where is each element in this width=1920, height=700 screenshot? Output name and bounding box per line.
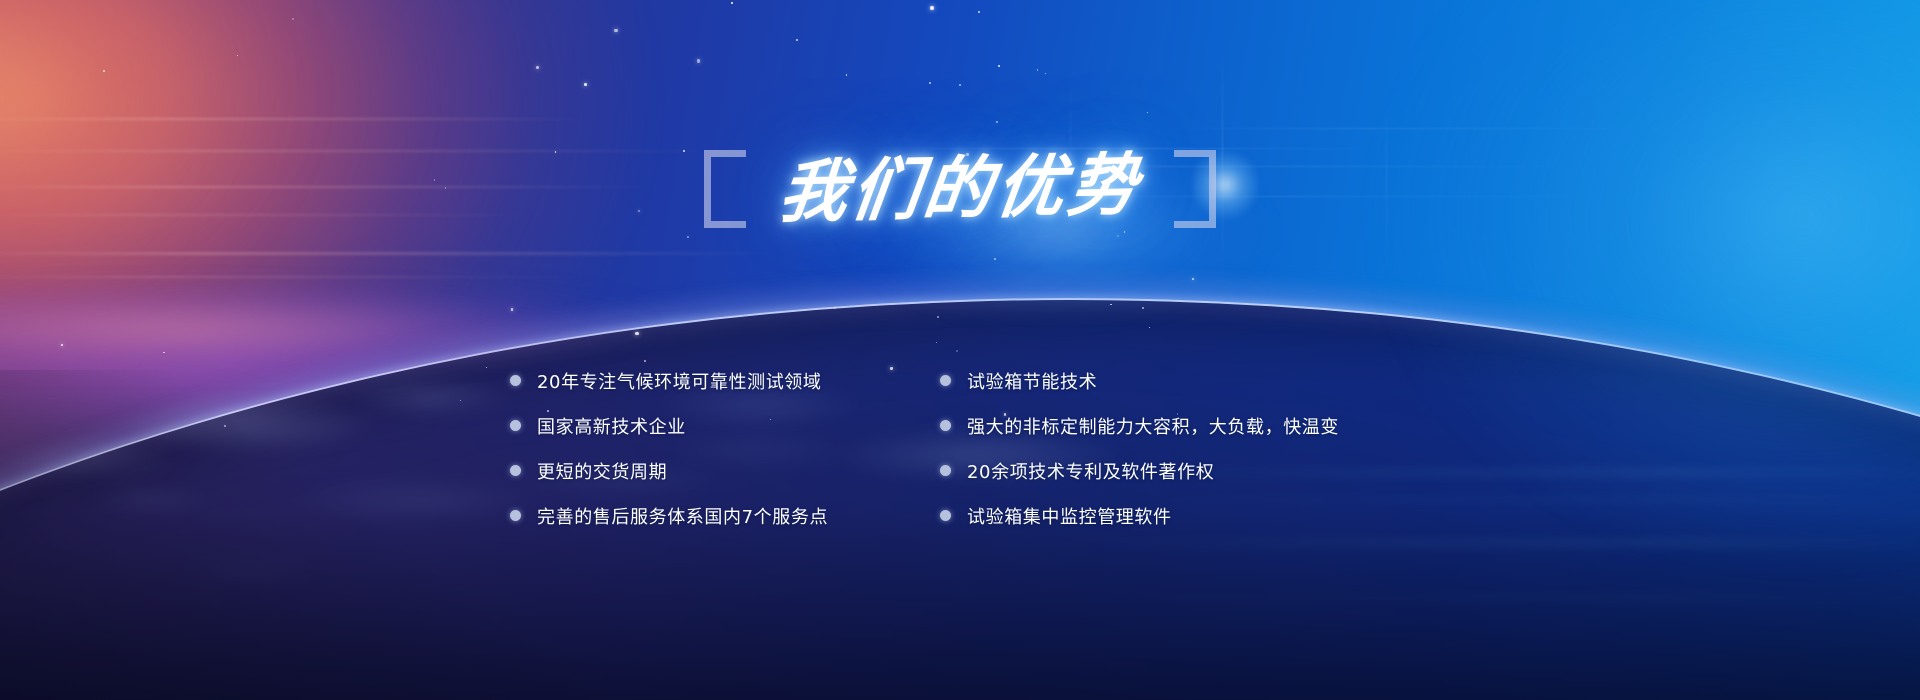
advantages-right-column: 试验箱节能技术 强大的非标定制能力大容积，大负载，快温变 20余项技术专利及软件…	[940, 358, 1410, 538]
bullet-dot-icon	[510, 465, 521, 476]
light-streak	[0, 118, 600, 120]
list-item: 20余项技术专利及软件著作权	[940, 448, 1410, 493]
advantages-left-column: 20年专注气候环境可靠性测试领域 国家高新技术企业 更短的交货周期 完善的售后服…	[510, 358, 940, 538]
bracket-left-icon	[704, 150, 746, 228]
advantages-lists: 20年专注气候环境可靠性测试领域 国家高新技术企业 更短的交货周期 完善的售后服…	[0, 358, 1920, 538]
list-item-label: 强大的非标定制能力大容积，大负载，快温变	[967, 413, 1339, 439]
banner-title-group: 我们的优势	[0, 150, 1920, 228]
bullet-dot-icon	[940, 420, 951, 431]
list-item-label: 20余项技术专利及软件著作权	[967, 458, 1214, 484]
bullet-dot-icon	[940, 465, 951, 476]
bracket-right-icon	[1174, 150, 1216, 228]
list-item: 完善的售后服务体系国内7个服务点	[510, 493, 940, 538]
list-item-label: 20年专注气候环境可靠性测试领域	[537, 368, 822, 394]
bullet-dot-icon	[510, 510, 521, 521]
list-item: 更短的交货周期	[510, 448, 940, 493]
list-item-label: 试验箱集中监控管理软件	[967, 503, 1172, 529]
list-item: 试验箱节能技术	[940, 358, 1410, 403]
bullet-dot-icon	[510, 420, 521, 431]
list-item: 20年专注气候环境可靠性测试领域	[510, 358, 940, 403]
light-streak	[0, 252, 780, 255]
list-item-label: 更短的交货周期	[537, 458, 667, 484]
list-item-label: 完善的售后服务体系国内7个服务点	[537, 503, 828, 529]
light-ray	[1150, 128, 1670, 129]
list-item: 国家高新技术企业	[510, 403, 940, 448]
list-item-label: 试验箱节能技术	[967, 368, 1097, 394]
bullet-dot-icon	[940, 375, 951, 386]
list-item-label: 国家高新技术企业	[537, 413, 686, 439]
list-item: 强大的非标定制能力大容积，大负载，快温变	[940, 403, 1410, 448]
light-streak	[0, 276, 580, 278]
bullet-dot-icon	[510, 375, 521, 386]
page-title: 我们的优势	[769, 151, 1150, 227]
list-item: 试验箱集中监控管理软件	[940, 493, 1410, 538]
bullet-dot-icon	[940, 510, 951, 521]
advantages-banner: 我们的优势 20年专注气候环境可靠性测试领域 国家高新技术企业 更短的交货周期 …	[0, 0, 1920, 700]
